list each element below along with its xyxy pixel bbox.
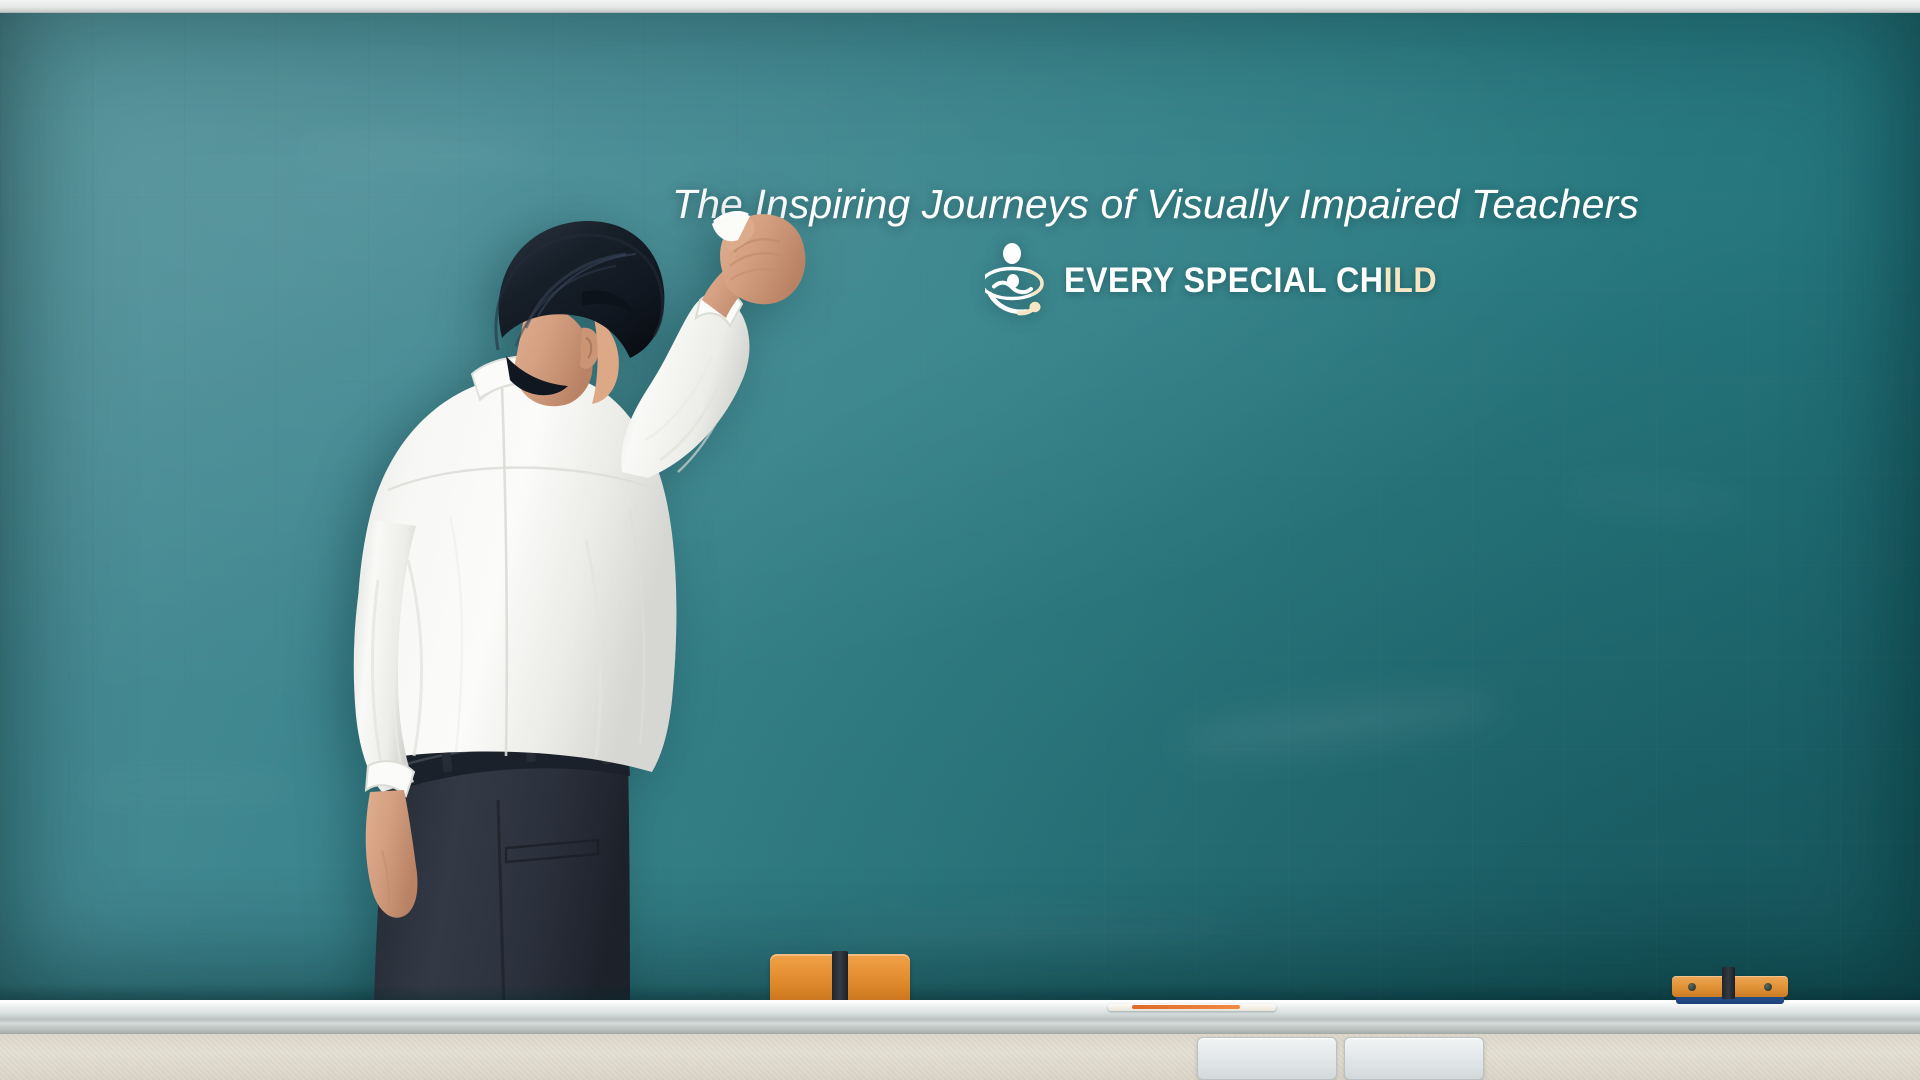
chalkboard-eraser-large[interactable]: [770, 954, 910, 1004]
chalkboard-surface: [0, 13, 1920, 1022]
eraser-knob: [1688, 983, 1696, 991]
teacher-figure: [330, 160, 890, 1080]
eraser-strap: [832, 951, 848, 1007]
board-top-frame: [0, 0, 1920, 13]
wordmark-primary: EVERY SPECIAL CH: [1064, 261, 1384, 300]
under-rail-panel-right[interactable]: [1344, 1037, 1484, 1080]
chalk-rail: [0, 1000, 1920, 1026]
board-vignette: [0, 13, 1920, 1022]
chalk-label-band: [1132, 1005, 1240, 1009]
every-special-child-logo-mark: [985, 243, 1047, 317]
eraser-knob: [1764, 983, 1772, 991]
wall-below-board: [0, 1034, 1920, 1080]
chalkboard-eraser-small[interactable]: [1672, 976, 1788, 1004]
wordmark-accent: ILD: [1384, 261, 1438, 300]
chalkboard-banner: The Inspiring Journeys of Visually Impai…: [0, 0, 1920, 1080]
brand-logo-lockup: EVERY SPECIAL CHILD: [985, 243, 1470, 317]
under-rail-panel-left[interactable]: [1197, 1037, 1337, 1080]
eraser-strap: [1722, 967, 1735, 999]
brand-logo-wordmark: EVERY SPECIAL CHILD: [1064, 263, 1437, 298]
